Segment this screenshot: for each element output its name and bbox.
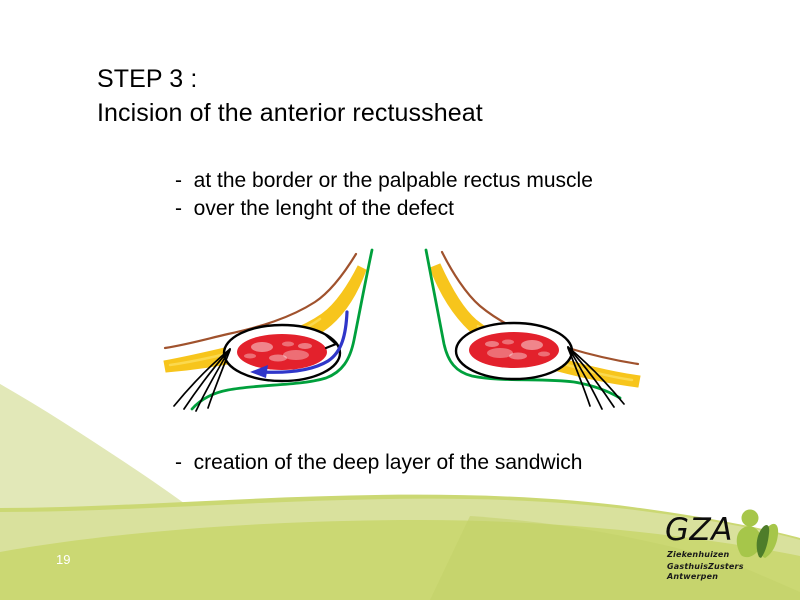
logo-subtitle-line-1: Ziekenhuizen (667, 550, 729, 560)
rectus-muscle-right-icon (469, 332, 559, 368)
page-number: 19 (56, 552, 70, 568)
bullet-item: - at the border or the palpable rectus m… (175, 167, 735, 195)
title-line-2: Incision of the anterior rectussheat (97, 96, 717, 130)
cross-section-right (426, 250, 640, 409)
page-title: STEP 3 : Incision of the anterior rectus… (97, 62, 717, 130)
gza-person-leaf-icon (731, 507, 783, 559)
bullet-item: - creation of the deep layer of the sand… (175, 449, 735, 477)
rectus-muscle-left-icon (237, 334, 327, 370)
bullet-list-top: - at the border or the palpable rectus m… (175, 167, 735, 223)
presentation-slide: STEP 3 : Incision of the anterior rectus… (0, 0, 800, 600)
logo-head-circle-icon (742, 510, 759, 527)
anterior-rectus-sheath-incision-diagram (150, 248, 650, 413)
bullet-item: - over the lenght of the defect (175, 195, 735, 223)
logo-wordmark: GZA (665, 514, 733, 546)
logo-subtitle-line-2: GasthuisZusters Antwerpen (667, 562, 793, 582)
title-line-1: STEP 3 : (97, 62, 717, 96)
bullet-list-bottom: - creation of the deep layer of the sand… (175, 449, 735, 477)
cross-section-left (164, 250, 372, 411)
gza-logo: GZA Ziekenhuizen GasthuisZusters Antwerp… (663, 505, 793, 580)
